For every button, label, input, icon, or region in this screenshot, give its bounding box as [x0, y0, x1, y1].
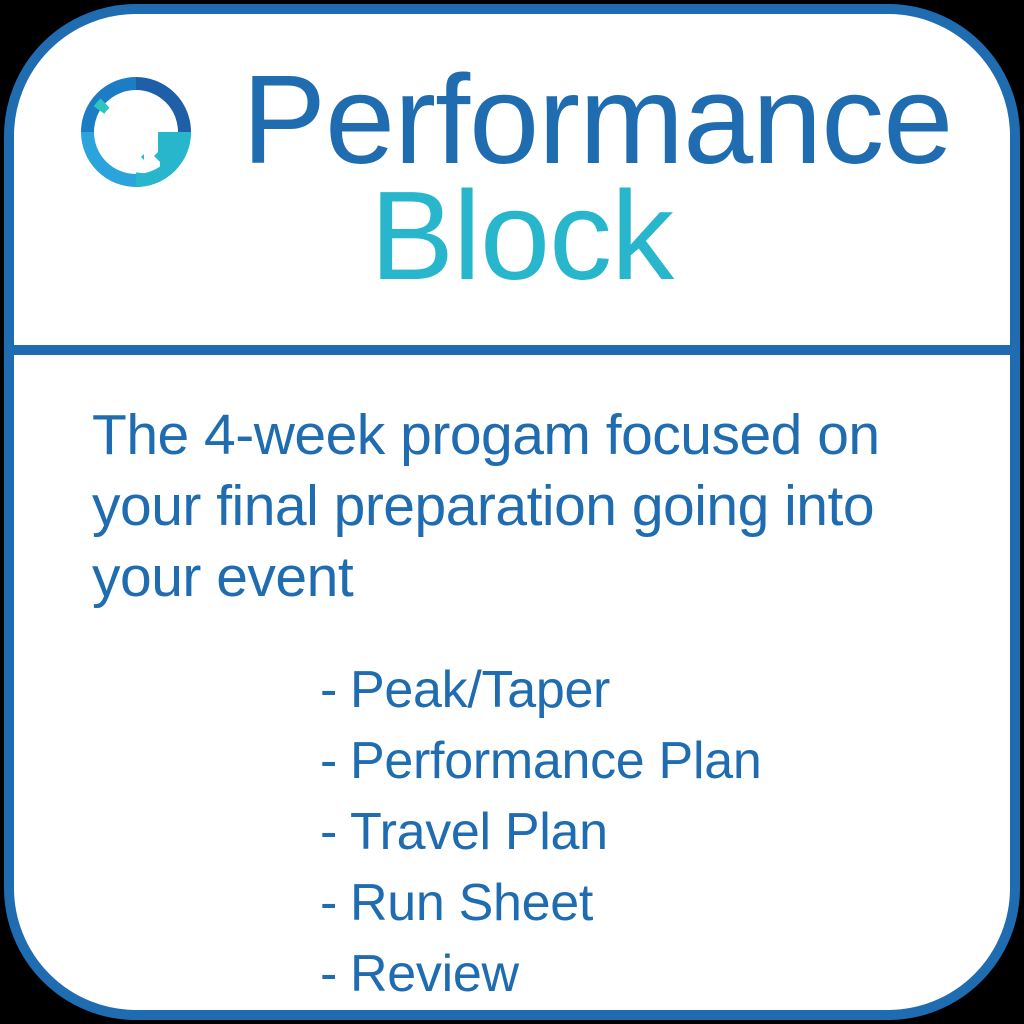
list-item: -Peak/Taper [320, 655, 952, 726]
page-title-secondary: Block [242, 176, 982, 296]
ring-logo-icon [80, 76, 192, 188]
list-item-label: Performance Plan [350, 732, 761, 790]
title-block: Performance Block [242, 64, 982, 296]
list-item-label: Review [350, 945, 519, 1003]
list-item: -Performance Plan [320, 726, 952, 797]
bullet-marker: - [320, 661, 337, 719]
feature-list: -Peak/Taper -Performance Plan -Travel Pl… [92, 655, 952, 1010]
bullet-marker: - [320, 945, 337, 1003]
bullet-marker: - [320, 732, 337, 790]
card-body: The 4-week progam focused on your final … [14, 355, 1010, 1010]
performance-block-card: Performance Block The 4-week progam focu… [4, 4, 1020, 1020]
bullet-marker: - [320, 874, 337, 932]
brand-logo [80, 76, 192, 188]
list-item-label: Peak/Taper [350, 661, 610, 719]
bullet-marker: - [320, 803, 337, 861]
list-item-label: Run Sheet [350, 874, 593, 932]
screenshot-canvas: Performance Block The 4-week progam focu… [0, 0, 1024, 1024]
list-item: -Travel Plan [320, 797, 952, 868]
page-title-primary: Performance [242, 64, 982, 176]
list-item: -Review [320, 939, 952, 1010]
list-item: -Run Sheet [320, 868, 952, 939]
description-text: The 4-week progam focused on your final … [92, 400, 952, 613]
list-item-label: Travel Plan [350, 803, 608, 861]
header-divider [4, 345, 1020, 355]
card-header: Performance Block [14, 14, 1010, 344]
